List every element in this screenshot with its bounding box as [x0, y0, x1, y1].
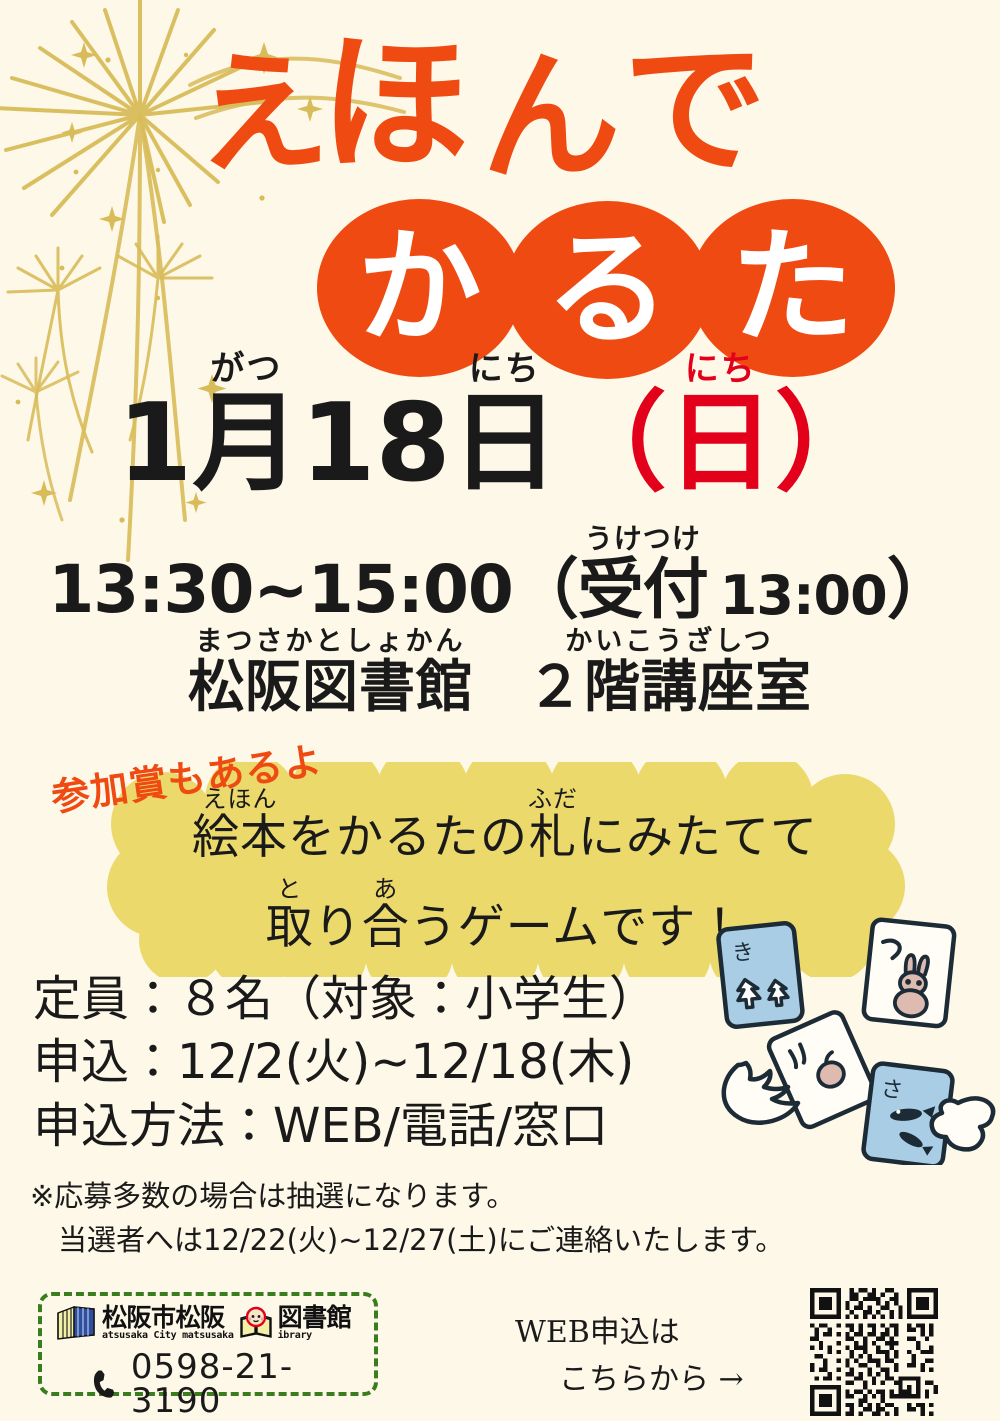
detail-application-period: 申込：12/2(火)~12/18(木) — [33, 1031, 733, 1094]
cloud-word-au: 合 — [362, 903, 410, 952]
cloud-word-fuda: 札 — [529, 813, 577, 862]
venue-room-name: ２階講座室 — [527, 660, 812, 716]
library-phone[interactable]: 0598-21-3190 — [92, 1350, 374, 1418]
time-reception-label: 受付 — [578, 557, 708, 623]
event-notes: ※応募多数の場合は抽選になります。 当選者へは12/22(火)~12/27(土)… — [30, 1175, 930, 1262]
cloud-text-game-desu: うゲームです！ — [410, 903, 745, 952]
event-time: 13:30~15:00 （ うけつけ 受付 13:00 ） — [0, 525, 1000, 623]
library-name-jp-2: 図書館 ibrary — [278, 1305, 352, 1341]
date-month-kanji: 月 — [192, 390, 300, 498]
cloud-filler-4: x うゲームです！ — [410, 877, 745, 952]
title-char-n: ん — [478, 46, 623, 191]
cloud-text-wokaruta: をかるたの — [288, 813, 528, 862]
time-reception-group: うけつけ 受付 — [578, 525, 708, 623]
library-name-jp-1: 松阪市松阪 atsusaka City matsusaka — [102, 1305, 234, 1341]
title-char-e: え — [193, 45, 332, 184]
library-name-main-1: 松阪市松阪 — [102, 1305, 225, 1330]
library-name-rom-2: ibrary — [278, 1331, 312, 1341]
date-day-kanji: 日 — [451, 390, 559, 498]
poster-title: え ほ ん で か る た — [0, 18, 1000, 379]
cloud-line-1: えほん 絵本 x をかるたの ふだ 札 x にみたてて — [192, 787, 818, 862]
title-char-ho: ほ — [319, 29, 472, 182]
cloud-text-ri: り — [314, 903, 362, 952]
date-day-digits: 18 — [300, 390, 450, 498]
date-month-group: がつ 1 — [117, 352, 192, 498]
venue-room-ruby: かいこうざしつ — [565, 628, 773, 655]
cloud-word-ehon: 絵本 — [192, 813, 288, 862]
date-day-number: 1 — [117, 390, 192, 498]
library-name-rom-1: atsusaka City matsusaka — [102, 1331, 234, 1341]
cloud-fuda-group: ふだ 札 — [528, 787, 578, 862]
library-contact-box: 松阪市松阪 atsusaka City matsusaka 図書館 ibrary — [38, 1292, 378, 1396]
date-weekday: 日 — [667, 390, 775, 498]
svg-text:さ: さ — [879, 1077, 904, 1104]
event-venue: まつさかとしょかん 松阪図書館 かいこうざしつ ２階講座室 — [0, 628, 1000, 716]
date-weekday-group: にち 日 — [667, 352, 775, 498]
time-paren-open: （ — [513, 557, 578, 623]
library-name-main-2: 図書館 — [278, 1305, 352, 1330]
detail-application-method: 申込方法：WEB/電話/窓口 — [33, 1095, 733, 1158]
venue-library-ruby: まつさかとしょかん — [196, 628, 466, 655]
title-char-de: で — [620, 34, 769, 183]
svg-text:き: き — [731, 940, 756, 967]
date-paren-open-group: に （ — [559, 352, 667, 498]
event-details: 定員：８名（対象：小学生） 申込：12/2(火)~12/18(木) 申込方法：W… — [33, 968, 733, 1158]
note-lottery: ※応募多数の場合は抽選になります。 — [30, 1175, 930, 1219]
web-application-text: WEB申込は こちらから → — [515, 1310, 744, 1403]
venue-room-group: かいこうざしつ ２階講座室 — [527, 628, 812, 716]
detail-capacity: 定員：８名（対象：小学生） — [33, 968, 733, 1031]
web-apply-line-1: WEB申込は — [515, 1310, 744, 1357]
note-contact-period: 当選者へは12/22(火)~12/27(土)にご連絡いたします。 — [30, 1219, 930, 1263]
karuta-cards-illustration: き — [700, 915, 1000, 1165]
cloud-ruby-a: あ — [373, 877, 398, 901]
time-reception-ruby: うけつけ — [585, 525, 701, 553]
cloud-au-group: あ 合 — [362, 877, 410, 952]
date-daynum-group: にち 18 — [300, 352, 450, 498]
time-paren-close: ） — [887, 557, 952, 623]
venue-library-group: まつさかとしょかん 松阪図書館 — [188, 628, 473, 716]
phone-number: 0598-21-3190 — [131, 1350, 374, 1418]
cloud-word-tori: 取 — [266, 903, 314, 952]
time-range: 13:30~15:00 — [48, 557, 512, 623]
cloud-filler-1: x をかるたの — [288, 787, 528, 862]
date-paren-close: ） — [775, 390, 883, 498]
venue-library-name: 松阪図書館 — [188, 660, 473, 716]
cloud-ruby-to: と — [277, 877, 302, 901]
date-paren-close-group: に ） — [775, 352, 883, 498]
cloud-filler-3: x り — [314, 877, 362, 952]
date-day-kanji-group: にち 日 — [451, 352, 559, 498]
cloud-tori-group: と 取 — [266, 877, 314, 952]
time-reception-value: 13:00 — [708, 569, 887, 623]
date-month-kanji-group: がつ 月 — [192, 352, 300, 498]
phone-icon — [92, 1368, 121, 1400]
event-date: がつ 1 がつ 月 にち 18 にち 日 に （ にち 日 に ） — [0, 352, 1000, 498]
cloud-line-2: と 取 x り あ 合 x うゲームです！ — [266, 877, 745, 952]
cloud-ruby-fuda: ふだ — [528, 787, 578, 811]
qr-code[interactable] — [810, 1288, 938, 1416]
date-paren-open: （ — [559, 390, 667, 498]
cloud-filler-2: x にみたてて — [578, 787, 818, 862]
cloud-text-nimitatete: にみたてて — [578, 813, 818, 862]
title-line-1: え ほ ん で — [0, 18, 1000, 193]
open-book-mascot-icon — [238, 1304, 274, 1342]
web-apply-line-2: こちらから → — [515, 1357, 744, 1404]
library-logo: 松阪市松阪 atsusaka City matsusaka 図書館 ibrary — [54, 1303, 351, 1343]
book-icon — [54, 1303, 98, 1343]
